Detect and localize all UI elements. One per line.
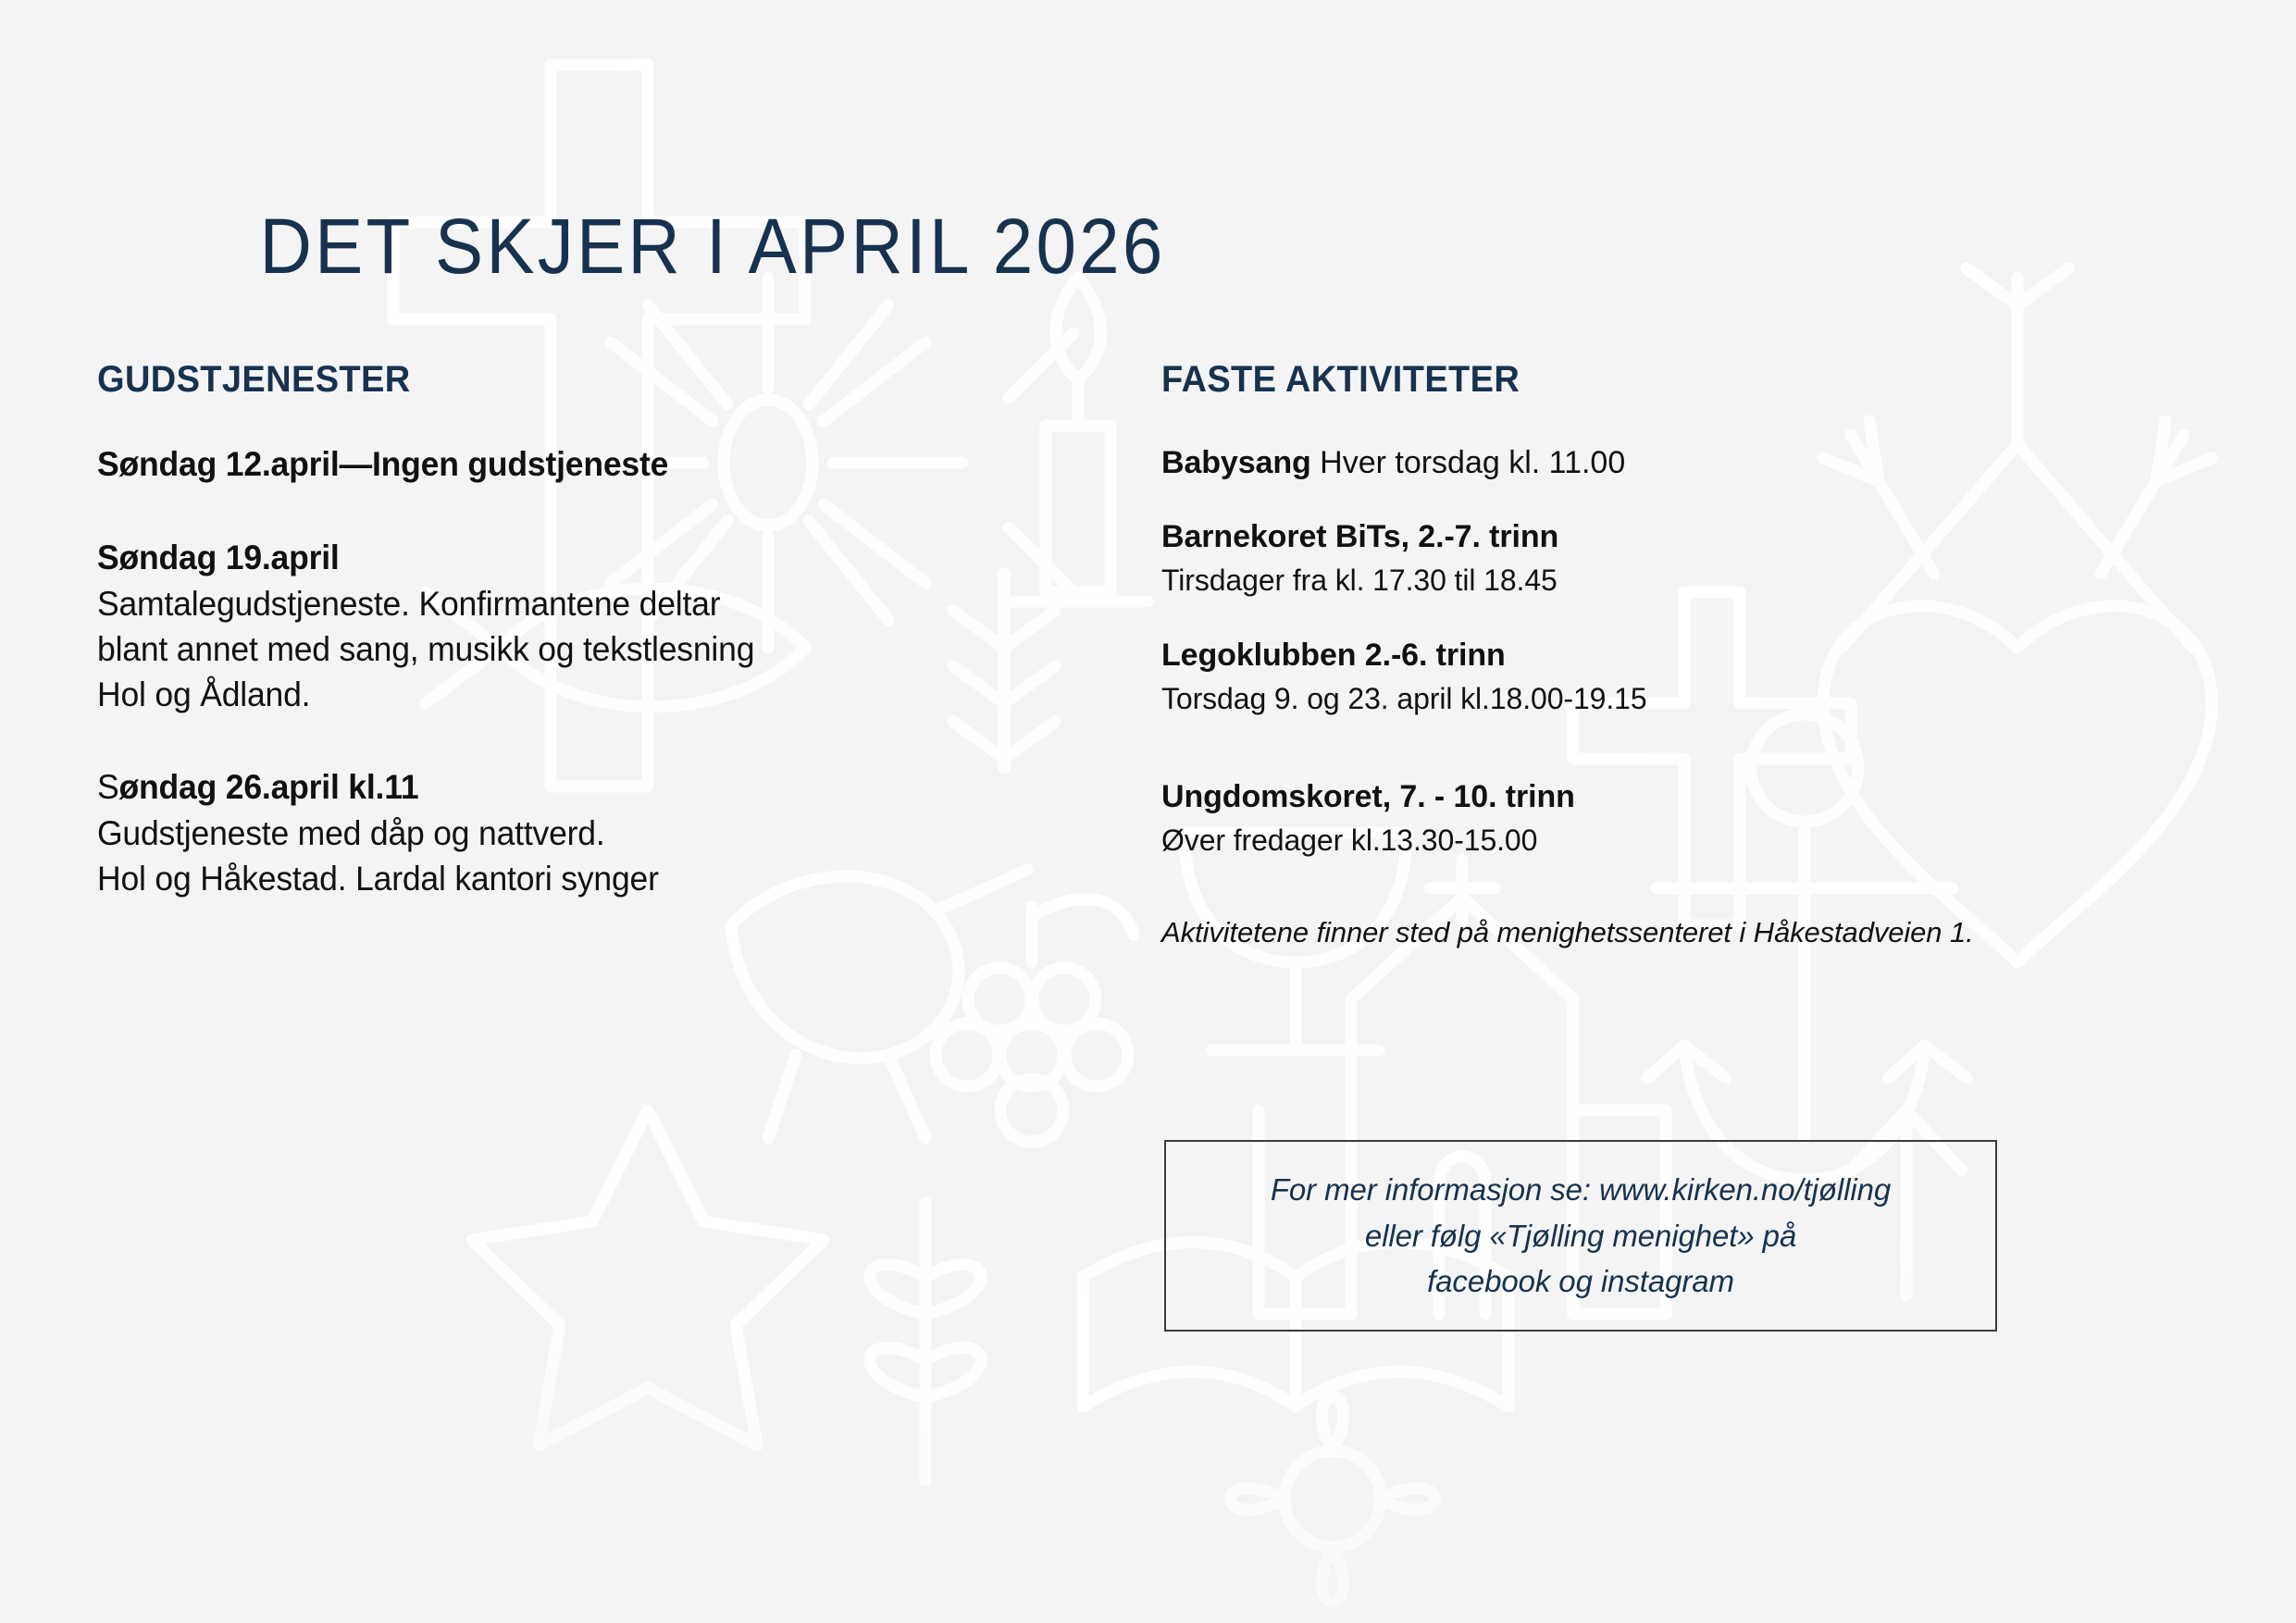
activities-heading: FASTE AKTIVITETER: [1161, 361, 2173, 398]
service-title: Søndag 19.april: [97, 536, 1039, 581]
service-title: Søndag 12.april—Ingen gudstjeneste: [97, 442, 1039, 488]
service-title: Søndag 26.april kl.11: [97, 765, 1039, 811]
activity-inline-detail: Hver torsdag kl. 11.00: [1311, 445, 1626, 480]
page-title: DET SKJER I APRIL 2026: [50, 207, 1375, 285]
service-detail-line: Hol og Ådland.: [97, 672, 1039, 717]
info-box: For mer informasjon se: www.kirken.no/tj…: [1164, 1140, 1997, 1332]
service-item: Søndag 26.april kl.11 Gudstjeneste med d…: [97, 765, 1078, 901]
activity-item: Ungdomskoret, 7. - 10. trinn Øver fredag…: [1161, 776, 2226, 861]
poster-root: DET SKJER I APRIL 2026 GUDSTJENESTER Søn…: [0, 0, 2296, 1623]
services-heading: GUDSTJENESTER: [97, 361, 1029, 398]
activity-name: Ungdomskoret, 7. - 10. trinn: [1161, 779, 1575, 814]
activity-item: Legoklubben 2.-6. trinn Torsdag 9. og 23…: [1161, 635, 2226, 719]
service-title-initial: S: [97, 768, 119, 806]
activity-name: Barnekoret BiTs, 2.-7. trinn: [1161, 519, 1558, 554]
spacer: [1161, 752, 2226, 776]
activities-location-note: Aktivitetene finner sted på menighetssen…: [1161, 914, 2226, 951]
service-detail-line: Gudstjeneste med dåp og nattverd.: [97, 811, 1039, 856]
activities-column: FASTE AKTIVITETER Babysang Hver torsdag …: [1161, 361, 2226, 952]
service-detail-line: blant annet med sang, musikk og tekstles…: [97, 626, 1039, 672]
activity-item: Barnekoret BiTs, 2.-7. trinn Tirsdager f…: [1161, 516, 2226, 601]
info-box-line: For mer informasjon se: www.kirken.no/tj…: [1271, 1167, 1891, 1213]
info-box-line: eller følg «Tjølling menighet» på: [1271, 1213, 1891, 1259]
activity-detail: Øver fredager kl.13.30-15.00: [1161, 821, 2226, 861]
info-box-text: For mer informasjon se: www.kirken.no/tj…: [1250, 1167, 1911, 1305]
service-item: Søndag 19.april Samtalegudstjeneste. Kon…: [97, 536, 1078, 717]
activity-detail: Tirsdager fra kl. 17.30 til 18.45: [1161, 561, 2226, 601]
service-item: Søndag 12.april—Ingen gudstjeneste: [97, 442, 1078, 488]
services-column: GUDSTJENESTER Søndag 12.april—Ingen guds…: [97, 361, 1078, 902]
activity-detail: Torsdag 9. og 23. april kl.18.00-19.15: [1161, 679, 2226, 719]
info-box-line: facebook og instagram: [1271, 1258, 1891, 1305]
service-detail-line: Hol og Håkestad. Lardal kantori synger: [97, 856, 1039, 901]
activity-name: Babysang: [1161, 445, 1311, 480]
service-title-rest: øndag 26.april kl.11: [119, 768, 419, 806]
activity-name: Legoklubben 2.-6. trinn: [1161, 638, 1506, 673]
service-detail-line: Samtalegudstjeneste. Konfirmantene delta…: [97, 581, 1039, 626]
activity-item: Babysang Hver torsdag kl. 11.00: [1161, 442, 2226, 483]
